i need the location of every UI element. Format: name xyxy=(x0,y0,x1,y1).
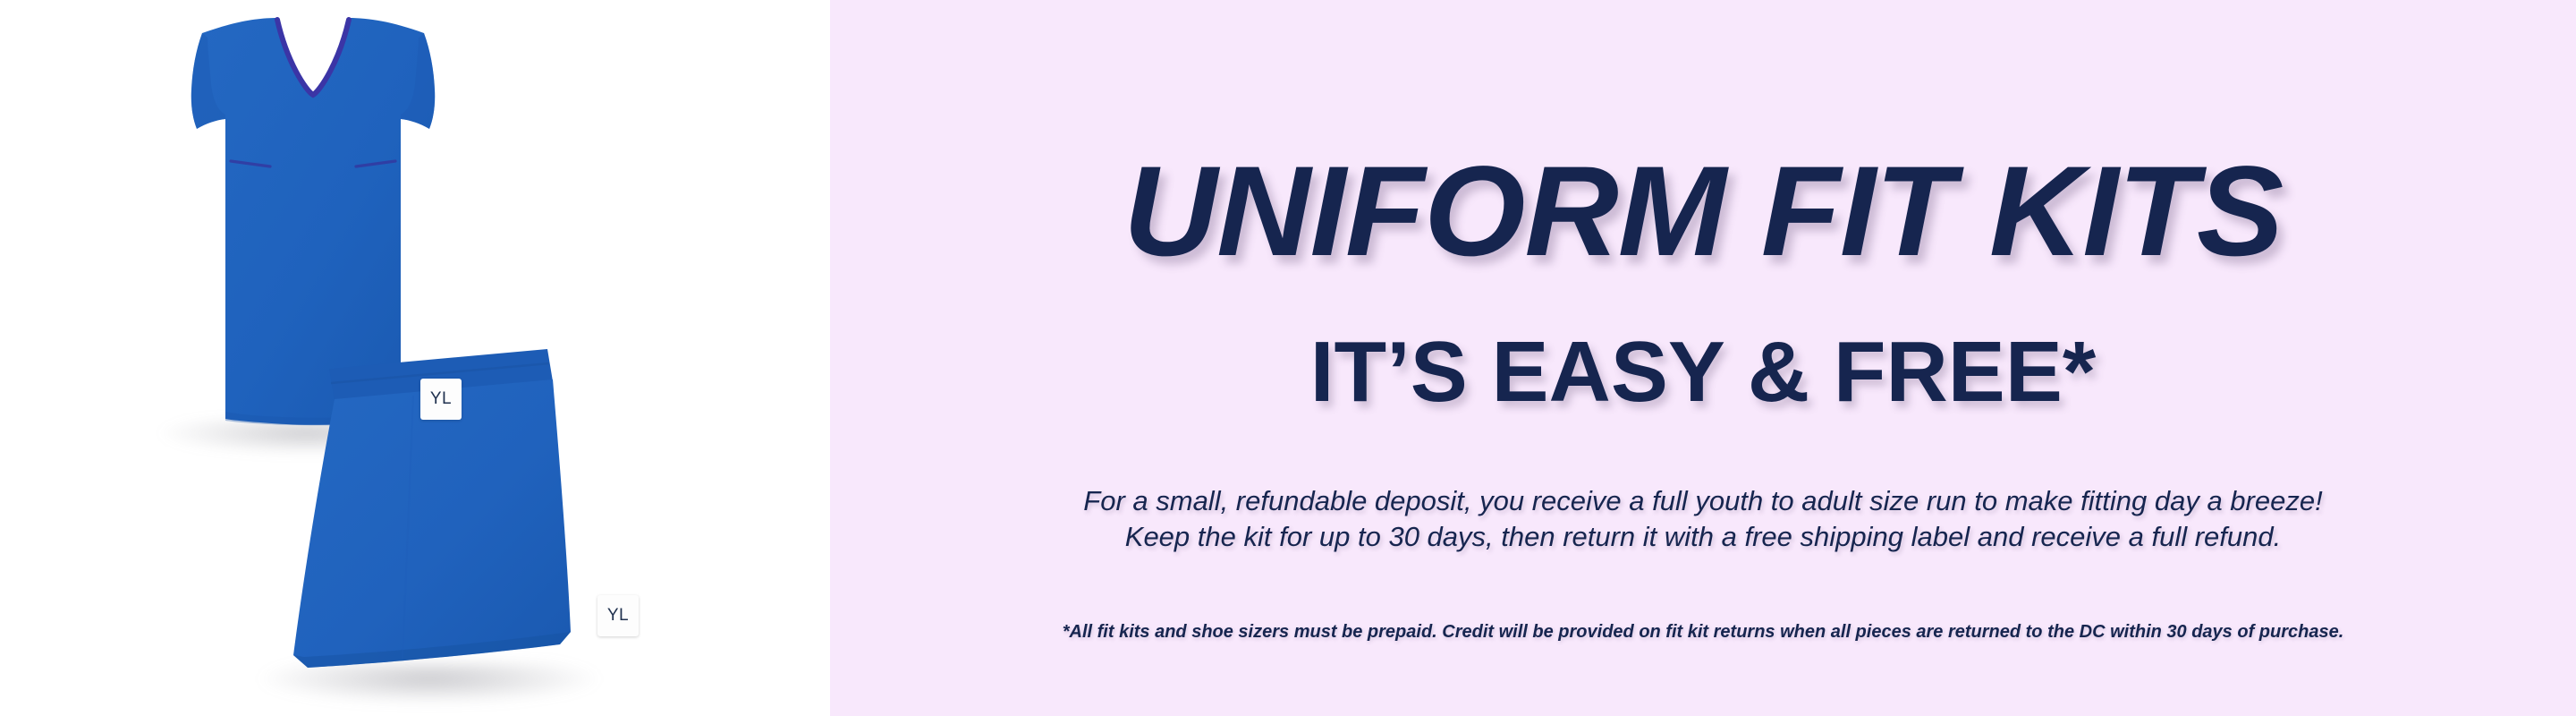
uniform-fit-kits-banner: YL YL UNIFORM FIT KITS IT’S EASY & FREE*… xyxy=(0,0,2576,716)
skirt-size-tag: YL xyxy=(597,595,639,636)
subheadline: IT’S EASY & FREE* xyxy=(830,329,2576,415)
fine-print-disclaimer: *All fit kits and shoe sizers must be pr… xyxy=(830,620,2576,644)
body-copy-line-1: For a small, refundable deposit, you rec… xyxy=(830,483,2576,519)
jersey-size-tag: YL xyxy=(420,379,462,420)
body-copy-line-2: Keep the kit for up to 30 days, then ret… xyxy=(830,519,2576,555)
headline: UNIFORM FIT KITS xyxy=(812,148,2576,276)
product-image-stage: YL YL xyxy=(0,0,830,716)
body-copy: For a small, refundable deposit, you rec… xyxy=(830,483,2576,554)
promo-copy-block: UNIFORM FIT KITS IT’S EASY & FREE* For a… xyxy=(830,0,2576,716)
